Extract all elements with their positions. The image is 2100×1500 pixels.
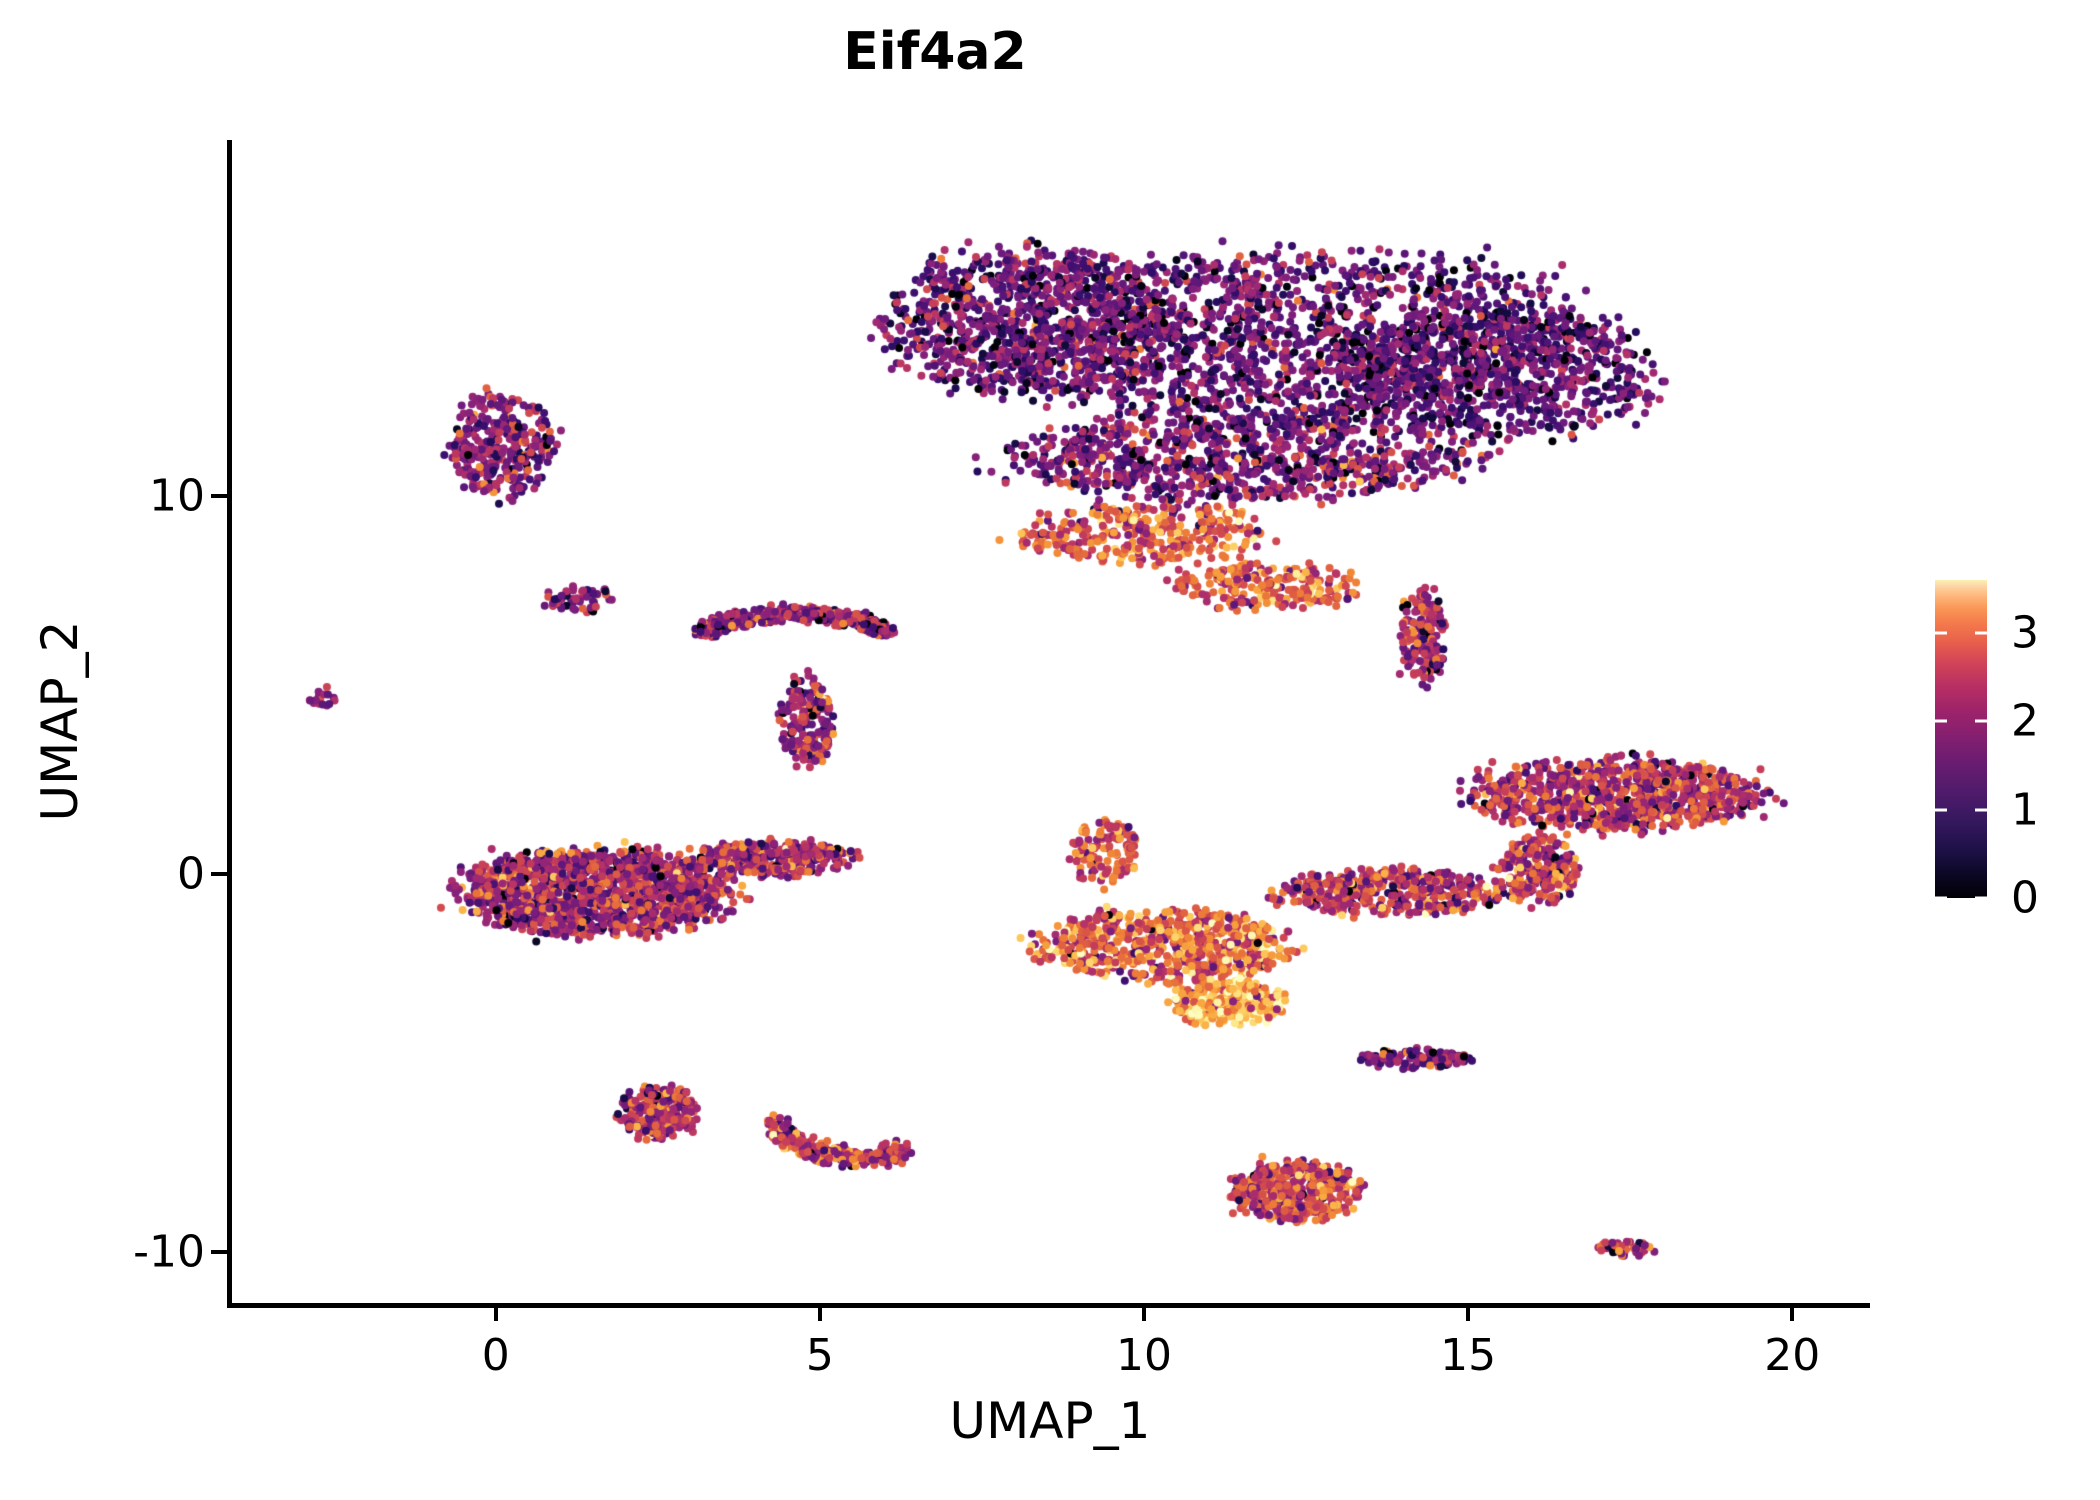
scatter-plot-canvas[interactable]	[230, 140, 1870, 1305]
x-tick-label: 5	[806, 1330, 834, 1381]
colorbar: 0123	[1935, 580, 2095, 898]
y-tick-label: -10	[133, 1227, 205, 1278]
x-tick-mark	[818, 1305, 822, 1321]
colorbar-tick-mark	[1935, 720, 1947, 723]
colorbar-tick-label: 0	[2011, 873, 2039, 924]
x-tick-label: 20	[1764, 1330, 1820, 1381]
colorbar-tick-mark	[1935, 808, 1947, 811]
x-tick-mark	[1790, 1305, 1794, 1321]
colorbar-tick-mark	[1935, 897, 1947, 900]
umap-feature-plot: Eif4a2 05101520 -10010 UMAP_1 UMAP_2 012…	[0, 0, 2100, 1500]
axis-spine-left	[227, 140, 232, 1305]
x-tick-label: 0	[482, 1330, 510, 1381]
x-tick-label: 15	[1440, 1330, 1496, 1381]
colorbar-tick-mark	[1975, 720, 1987, 723]
colorbar-gradient	[1935, 580, 1987, 898]
colorbar-tick-mark	[1975, 808, 1987, 811]
y-tick-label: 10	[149, 470, 205, 521]
y-tick-mark	[211, 1250, 227, 1254]
axis-spine-bottom	[227, 1303, 1870, 1308]
colorbar-tick-mark	[1975, 897, 1987, 900]
x-tick-mark	[1466, 1305, 1470, 1321]
y-tick-label: 0	[177, 848, 205, 899]
colorbar-tick-label: 2	[2011, 696, 2039, 747]
colorbar-tick-mark	[1935, 632, 1947, 635]
y-tick-mark	[211, 872, 227, 876]
x-axis-label: UMAP_1	[230, 1392, 1870, 1450]
colorbar-tick-label: 3	[2011, 608, 2039, 659]
colorbar-tick-label: 1	[2011, 784, 2039, 835]
x-tick-mark	[1142, 1305, 1146, 1321]
colorbar-tick-mark	[1975, 632, 1987, 635]
x-tick-mark	[494, 1305, 498, 1321]
plot-axes: 05101520 -10010	[230, 140, 1870, 1305]
page-title: Eif4a2	[0, 22, 1870, 82]
y-axis-label: UMAP_2	[31, 351, 89, 1091]
y-tick-mark	[211, 494, 227, 498]
x-tick-label: 10	[1116, 1330, 1172, 1381]
